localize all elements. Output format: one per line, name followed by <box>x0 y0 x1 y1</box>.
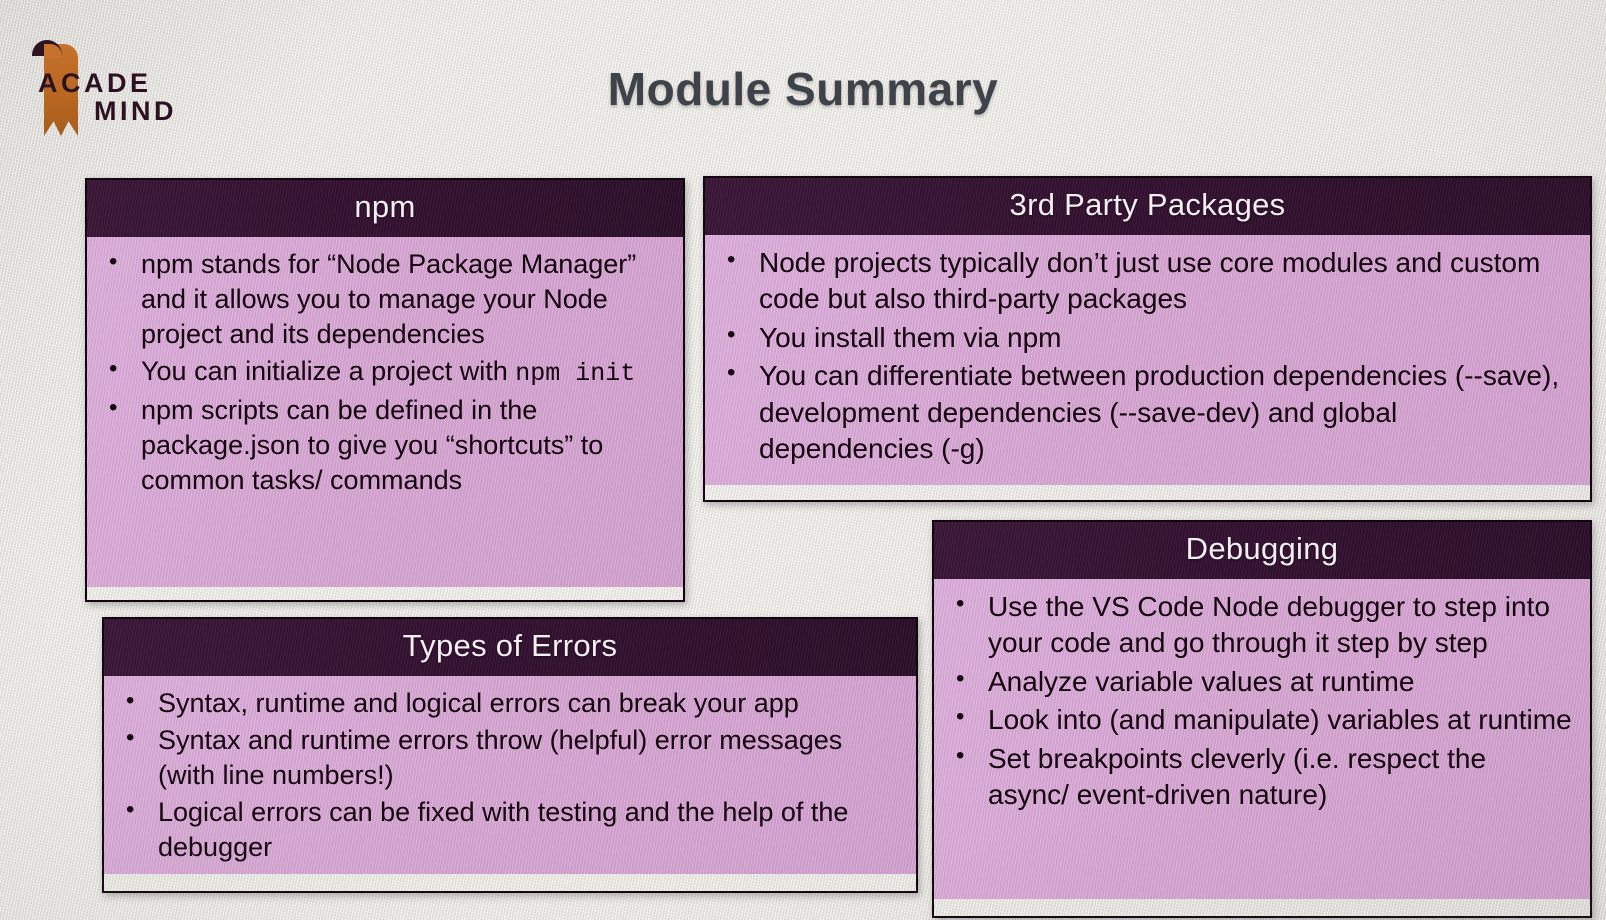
bullet-item: You can initialize a project with npm in… <box>101 354 667 391</box>
card-debugging-body: Use the VS Code Node debugger to step in… <box>934 579 1590 899</box>
bullet-text: You can initialize a project with <box>141 356 515 386</box>
bullet-item: Node projects typically don’t just use c… <box>719 245 1574 318</box>
card-types-of-errors-bullet-list: Syntax, runtime and logical errors can b… <box>118 686 900 865</box>
bullet-text: Use the VS Code Node debugger to step in… <box>988 591 1550 658</box>
card-debugging: Debugging Use the VS Code Node debugger … <box>932 520 1592 918</box>
bullet-text: npm scripts can be defined in the packag… <box>141 395 603 495</box>
bullet-text: You can differentiate between production… <box>759 360 1559 464</box>
card-third-party-packages: 3rd Party Packages Node projects typical… <box>703 176 1592 502</box>
bullet-item: You can differentiate between production… <box>719 358 1574 467</box>
bullet-item: Use the VS Code Node debugger to step in… <box>948 589 1574 662</box>
flag-curl-shape <box>32 40 62 56</box>
card-npm-bullet-list: npm stands for “Node Package Manager” an… <box>101 247 667 498</box>
card-third-party-packages-title: 3rd Party Packages <box>705 178 1590 235</box>
bullet-item: npm stands for “Node Package Manager” an… <box>101 247 667 352</box>
card-debugging-title: Debugging <box>934 522 1590 579</box>
bullet-text: Node projects typically don’t just use c… <box>759 247 1540 314</box>
bullet-item: npm scripts can be defined in the packag… <box>101 393 667 498</box>
card-npm-body: npm stands for “Node Package Manager” an… <box>87 237 683 587</box>
bullet-item: Analyze variable values at runtime <box>948 664 1574 700</box>
bullet-text: You install them via npm <box>759 322 1061 353</box>
bullet-item: Look into (and manipulate) variables at … <box>948 702 1574 738</box>
card-npm: npm npm stands for “Node Package Manager… <box>85 178 685 602</box>
card-types-of-errors-title: Types of Errors <box>104 619 916 676</box>
slide-title: Module Summary <box>0 62 1606 116</box>
bullet-item: Syntax, runtime and logical errors can b… <box>118 686 900 721</box>
inline-code: npm init <box>515 359 635 388</box>
card-debugging-bullet-list: Use the VS Code Node debugger to step in… <box>948 589 1574 813</box>
card-third-party-packages-body: Node projects typically don’t just use c… <box>705 235 1590 485</box>
bullet-text: Syntax and runtime errors throw (helpful… <box>158 725 842 790</box>
bullet-item: Logical errors can be fixed with testing… <box>118 795 900 865</box>
bullet-item: You install them via npm <box>719 320 1574 356</box>
bullet-text: npm stands for “Node Package Manager” an… <box>141 249 636 349</box>
card-types-of-errors: Types of Errors Syntax, runtime and logi… <box>102 617 918 893</box>
bullet-text: Look into (and manipulate) variables at … <box>988 704 1572 735</box>
bullet-item: Set breakpoints cleverly (i.e. respect t… <box>948 741 1574 814</box>
bullet-item: Syntax and runtime errors throw (helpful… <box>118 723 900 793</box>
bullet-text: Syntax, runtime and logical errors can b… <box>158 688 799 718</box>
card-types-of-errors-body: Syntax, runtime and logical errors can b… <box>104 676 916 874</box>
bullet-text: Analyze variable values at runtime <box>988 666 1414 697</box>
card-third-party-packages-bullet-list: Node projects typically don’t just use c… <box>719 245 1574 467</box>
card-npm-title: npm <box>87 180 683 237</box>
bullet-text: Logical errors can be fixed with testing… <box>158 797 848 862</box>
bullet-text: Set breakpoints cleverly (i.e. respect t… <box>988 743 1486 810</box>
